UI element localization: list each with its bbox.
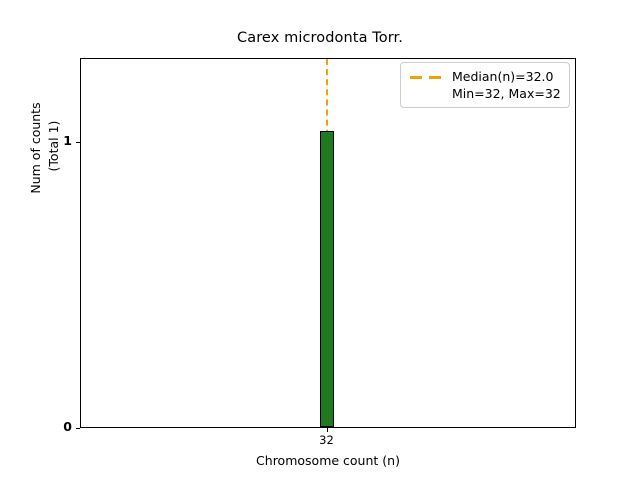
y-tick-label-0: 0 <box>63 421 72 434</box>
page-title: Carex microdonta Torr. <box>0 30 640 46</box>
x-tick-label-32: 32 <box>307 435 347 447</box>
x-axis-label: Chromosome count (n) <box>80 453 576 468</box>
plot-area <box>80 58 576 428</box>
y-axis-label: Num of counts (Total 1) <box>27 102 63 193</box>
dashed-line-icon <box>409 70 443 84</box>
legend-entry-minmax: Min=32, Max=32 <box>409 86 561 101</box>
y-axis-label-wrapper: Num of counts (Total 1) <box>25 0 65 348</box>
x-tick-mark-32 <box>327 428 328 432</box>
y-tick-mark-0 <box>76 428 80 429</box>
legend-label-minmax: Min=32, Max=32 <box>452 86 561 101</box>
legend-label-median: Median(n)=32.0 <box>452 69 553 84</box>
y-tick-label-1: 1 <box>63 135 72 148</box>
chart-figure: Carex microdonta Torr. 1 0 32 Chromosome… <box>0 0 640 480</box>
bar-32[interactable] <box>320 131 334 427</box>
chart-legend: Median(n)=32.0 Min=32, Max=32 <box>400 62 570 108</box>
legend-entry-median: Median(n)=32.0 <box>409 69 561 84</box>
